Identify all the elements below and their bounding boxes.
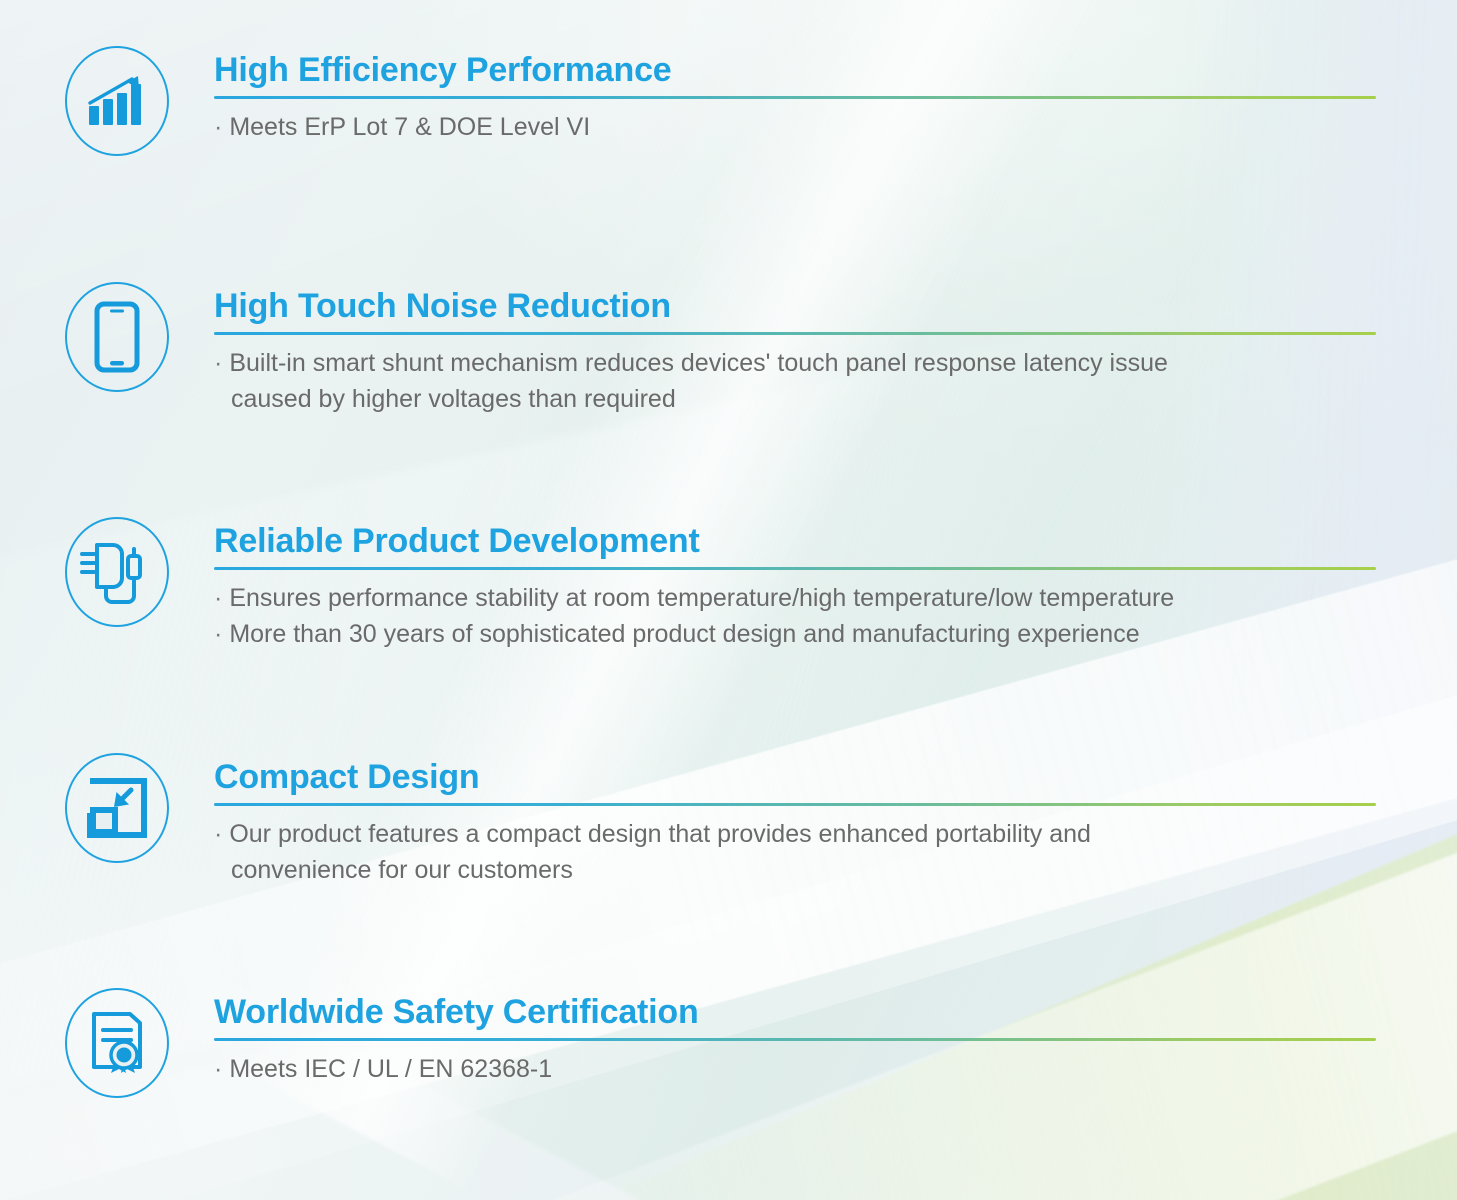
feature-item-reliable-product-development: Reliable Product Development ·Ensures pe… <box>0 517 1457 652</box>
feature-bullet: ·Meets ErP Lot 7 & DOE Level VI <box>214 109 1457 145</box>
bullet-text: caused by higher voltages than required <box>214 381 676 417</box>
power-adapter-glyph <box>79 537 155 607</box>
feature-body: ·Ensures performance stability at room t… <box>214 580 1457 652</box>
feature-title: Reliable Product Development <box>214 521 1457 561</box>
feature-text-block: Worldwide Safety Certification ·Meets IE… <box>214 988 1457 1087</box>
feature-title: Worldwide Safety Certification <box>214 992 1457 1032</box>
feature-item-high-touch-noise-reduction: High Touch Noise Reduction ·Built-in sma… <box>0 282 1457 417</box>
bullet-marker: · <box>214 820 222 848</box>
certificate-seal-icon <box>65 988 169 1098</box>
feature-list: High Efficiency Performance ·Meets ErP L… <box>0 0 1457 1200</box>
feature-text-block: High Touch Noise Reduction ·Built-in sma… <box>214 282 1457 417</box>
feature-bullet: ·Meets IEC / UL / EN 62368-1 <box>214 1051 1457 1087</box>
feature-divider <box>214 567 1376 570</box>
feature-divider <box>214 332 1376 335</box>
feature-item-high-efficiency-performance: High Efficiency Performance ·Meets ErP L… <box>0 46 1457 156</box>
bullet-marker: · <box>214 349 222 377</box>
feature-icon-wrapper <box>62 753 172 863</box>
feature-body: ·Meets ErP Lot 7 & DOE Level VI <box>214 109 1457 145</box>
feature-icon-wrapper <box>62 517 172 627</box>
feature-title: High Efficiency Performance <box>214 50 1457 90</box>
feature-divider <box>214 96 1376 99</box>
feature-bullet-continuation: caused by higher voltages than required <box>214 381 1457 417</box>
feature-title: High Touch Noise Reduction <box>214 286 1457 326</box>
feature-body: ·Meets IEC / UL / EN 62368-1 <box>214 1051 1457 1087</box>
feature-text-block: Compact Design ·Our product features a c… <box>214 753 1457 888</box>
feature-bullet: ·Our product features a compact design t… <box>214 816 1457 852</box>
smartphone-glyph <box>94 301 140 373</box>
feature-text-block: Reliable Product Development ·Ensures pe… <box>214 517 1457 652</box>
feature-body: ·Built-in smart shunt mechanism reduces … <box>214 345 1457 417</box>
feature-icon-wrapper <box>62 282 172 392</box>
compact-resize-icon <box>65 753 169 863</box>
bullet-text: Meets ErP Lot 7 & DOE Level VI <box>229 113 590 141</box>
bullet-text: Built-in smart shunt mechanism reduces d… <box>229 349 1168 377</box>
bullet-text: More than 30 years of sophisticated prod… <box>229 620 1139 648</box>
feature-text-block: High Efficiency Performance ·Meets ErP L… <box>214 46 1457 145</box>
feature-bullet: ·More than 30 years of sophisticated pro… <box>214 616 1457 652</box>
certificate-seal-glyph <box>86 1009 148 1077</box>
bullet-marker: · <box>214 113 222 141</box>
bullet-text: Meets IEC / UL / EN 62368-1 <box>229 1055 552 1083</box>
feature-icon-wrapper <box>62 988 172 1098</box>
feature-bullet: ·Ensures performance stability at room t… <box>214 580 1457 616</box>
bullet-text: convenience for our customers <box>214 852 573 888</box>
feature-bullet: ·Built-in smart shunt mechanism reduces … <box>214 345 1457 381</box>
bullet-marker: · <box>214 584 222 612</box>
feature-title: Compact Design <box>214 757 1457 797</box>
bar-chart-growth-glyph <box>86 73 148 129</box>
bullet-text: Ensures performance stability at room te… <box>229 584 1174 612</box>
feature-item-worldwide-safety-certification: Worldwide Safety Certification ·Meets IE… <box>0 988 1457 1098</box>
feature-divider <box>214 1038 1376 1041</box>
bullet-text: Our product features a compact design th… <box>229 820 1091 848</box>
power-adapter-icon <box>65 517 169 627</box>
feature-bullet-continuation: convenience for our customers <box>214 852 1457 888</box>
bullet-marker: · <box>214 1055 222 1083</box>
feature-item-compact-design: Compact Design ·Our product features a c… <box>0 753 1457 888</box>
feature-body: ·Our product features a compact design t… <box>214 816 1457 888</box>
compact-resize-glyph <box>86 777 148 839</box>
smartphone-icon <box>65 282 169 392</box>
bullet-marker: · <box>214 620 222 648</box>
bar-chart-growth-icon <box>65 46 169 156</box>
feature-divider <box>214 803 1376 806</box>
feature-icon-wrapper <box>62 46 172 156</box>
